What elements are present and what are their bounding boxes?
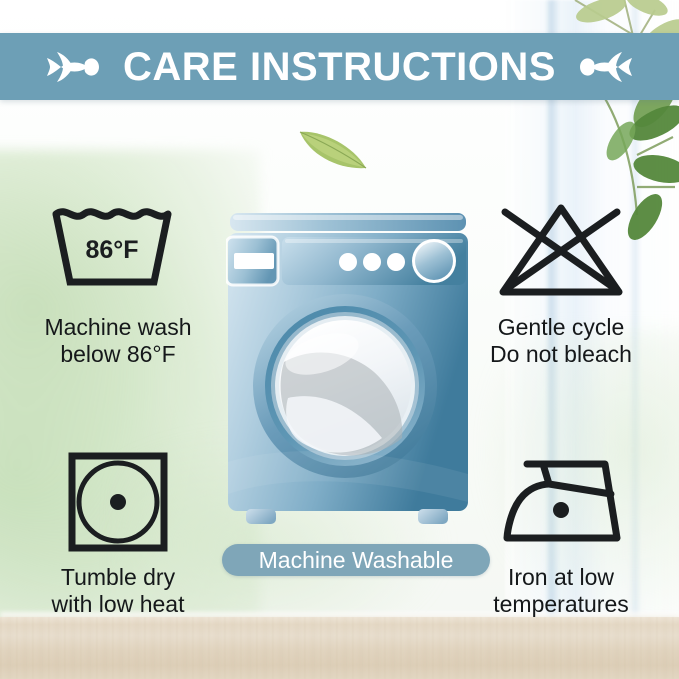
fleur-de-lis-icon-right xyxy=(570,45,632,89)
washing-machine-illustration xyxy=(226,212,470,537)
care-caption-iron: Iron at low temperatures xyxy=(461,564,661,618)
care-caption-gentle-cycle: Gentle cycle Do not bleach xyxy=(461,314,661,368)
care-caption-machine-wash: Machine wash below 86°F xyxy=(18,314,218,368)
care-symbol-iron-low: Iron at low temperatures xyxy=(461,446,661,618)
care-symbol-tumble-dry: Tumble dry with low heat xyxy=(18,446,218,618)
wash-tub-icon: 86°F xyxy=(18,196,218,308)
machine-washable-badge-label: Machine Washable xyxy=(259,549,454,572)
fleur-de-lis-icon-left xyxy=(47,45,109,89)
care-symbol-machine-wash: 86°F Machine wash below 86°F xyxy=(18,196,218,368)
floating-leaf-icon xyxy=(294,120,374,176)
care-caption-tumble-dry: Tumble dry with low heat xyxy=(18,564,218,618)
care-instructions-card: CARE INSTRUCTIONS 86°F Machine wash belo… xyxy=(0,0,679,679)
care-symbol-gentle-cycle-no-bleach: Gentle cycle Do not bleach xyxy=(461,196,661,368)
wash-temperature-value: 86°F xyxy=(85,236,138,264)
machine-washable-badge: Machine Washable xyxy=(222,544,490,576)
triangle-crossed-out-icon xyxy=(461,196,661,308)
wooden-table-surface xyxy=(0,617,679,679)
tumble-dry-low-heat-icon xyxy=(18,446,218,558)
iron-one-dot-icon xyxy=(461,446,661,558)
banner-title: CARE INSTRUCTIONS xyxy=(123,47,556,87)
banner: CARE INSTRUCTIONS xyxy=(0,33,679,100)
